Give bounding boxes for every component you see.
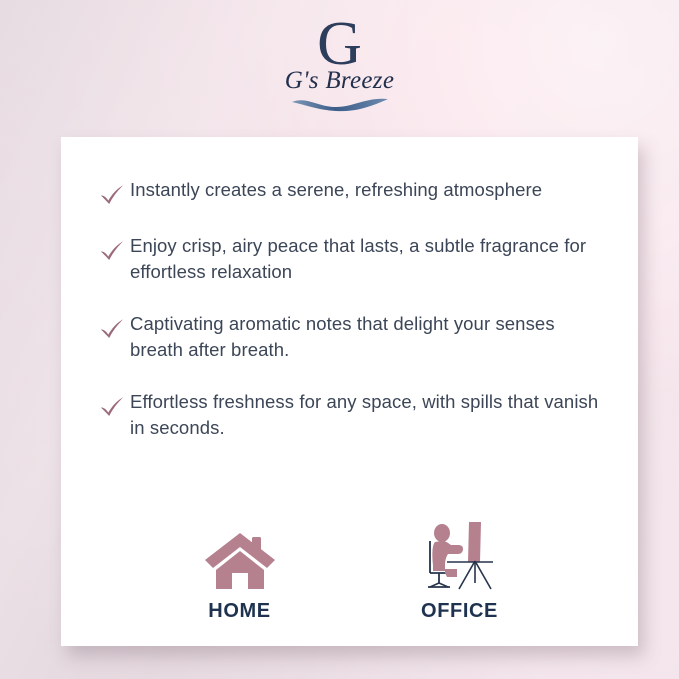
check-icon: [99, 317, 125, 341]
benefits-list: Instantly creates a serene, refreshing a…: [99, 177, 609, 441]
benefits-card: Instantly creates a serene, refreshing a…: [61, 137, 638, 646]
brand-name: G's Breeze: [0, 68, 679, 94]
check-icon: [99, 183, 125, 207]
list-item-label: Captivating aromatic notes that delight …: [130, 311, 608, 363]
house-icon: [203, 529, 277, 591]
usage-contexts: HOME: [61, 515, 638, 623]
list-item-label: Enjoy crisp, airy peace that lasts, a su…: [130, 233, 608, 285]
list-item: Captivating aromatic notes that delight …: [99, 311, 609, 363]
usage-item-office: OFFICE: [405, 515, 515, 623]
wave-swoosh-icon: [290, 95, 390, 113]
list-item-label: Instantly creates a serene, refreshing a…: [130, 177, 542, 203]
brand-logo: G G's Breeze: [0, 14, 679, 113]
check-icon: [99, 395, 125, 419]
usage-label-home: HOME: [185, 600, 295, 623]
monogram-g: G: [0, 14, 679, 66]
list-item: Instantly creates a serene, refreshing a…: [99, 177, 609, 207]
office-desk-icon: [423, 521, 497, 591]
list-item-label: Effortless freshness for any space, with…: [130, 389, 608, 441]
house-art: [185, 515, 295, 591]
usage-label-office: OFFICE: [405, 600, 515, 623]
usage-item-home: HOME: [185, 515, 295, 623]
list-item: Effortless freshness for any space, with…: [99, 389, 609, 441]
check-icon: [99, 239, 125, 263]
office-art: [405, 515, 515, 591]
list-item: Enjoy crisp, airy peace that lasts, a su…: [99, 233, 609, 285]
